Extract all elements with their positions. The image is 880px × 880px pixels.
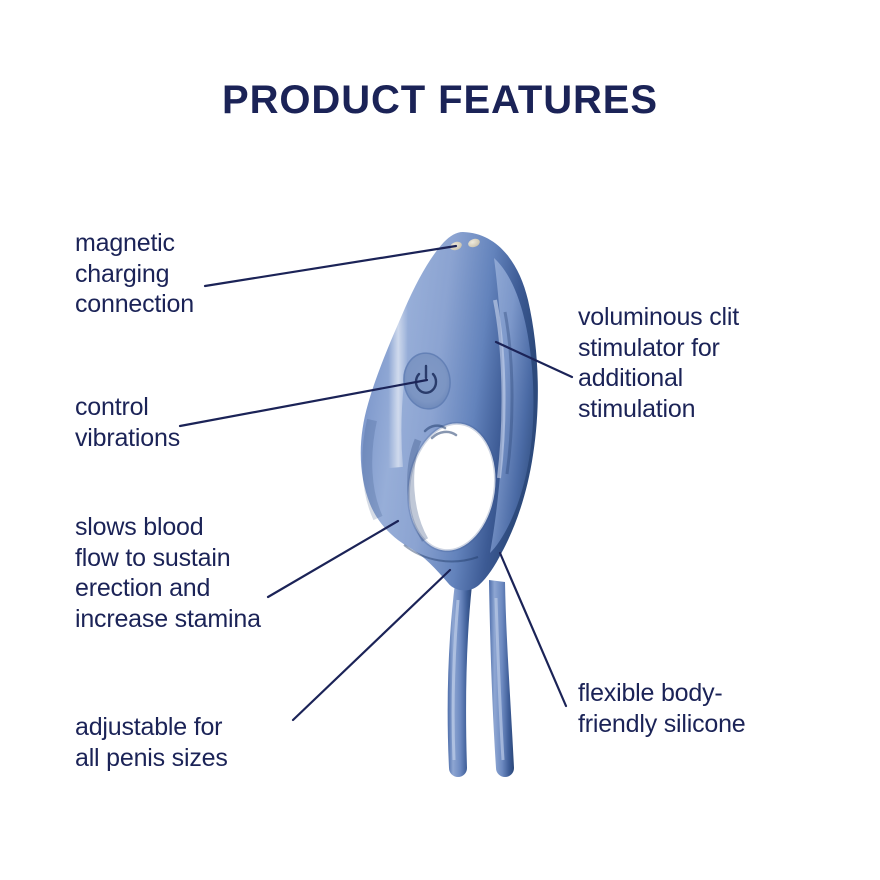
callout-slows-blood-flow: slows blood flow to sustain erection and… xyxy=(75,512,325,634)
callout-voluminous-clit-stimulator: voluminous clit stimulator for additiona… xyxy=(578,302,838,424)
product-body xyxy=(361,232,538,590)
product-features-page: PRODUCT FEATURES xyxy=(0,0,880,880)
callout-control-vibrations: control vibrations xyxy=(75,392,305,453)
callout-magnetic-charging-connection: magnetic charging connection xyxy=(75,228,305,320)
callout-flexible-body-friendly-silicone: flexible body- friendly silicone xyxy=(578,678,848,739)
callout-adjustable-for-all-penis-sizes: adjustable for all penis sizes xyxy=(75,712,325,773)
adjustable-straps xyxy=(448,580,514,777)
